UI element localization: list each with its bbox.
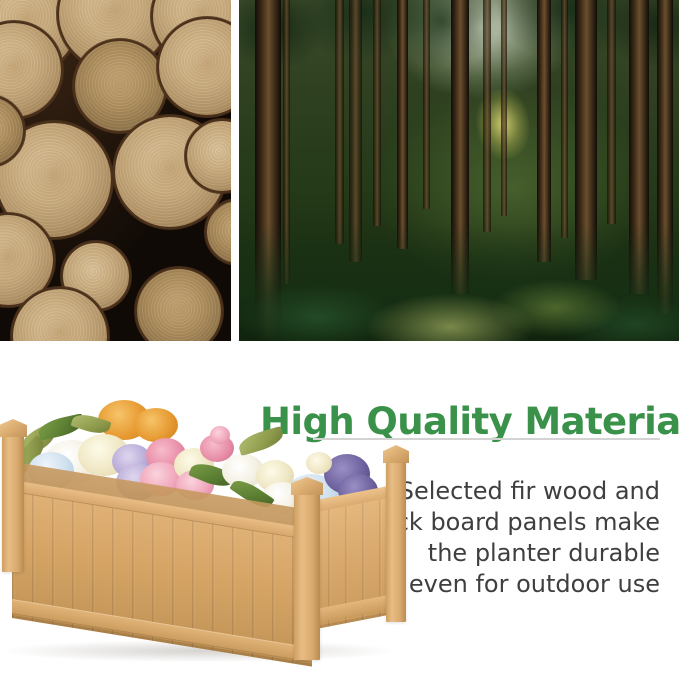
- planter-leg: [4, 562, 22, 592]
- tree-trunk: [607, 0, 616, 224]
- tree-trunk: [335, 0, 344, 244]
- planter-leg: [388, 610, 404, 632]
- tree-trunk: [501, 0, 507, 216]
- planter-product-photo: [0, 412, 414, 679]
- forest-floor: [239, 223, 679, 341]
- tree-trunk: [373, 0, 381, 226]
- tree-trunk: [483, 0, 491, 232]
- log-end: [186, 120, 231, 192]
- stacked-logs-photo: [0, 0, 231, 341]
- photo-strip: [0, 0, 679, 341]
- corner-post: [294, 492, 320, 660]
- planter-leg: [296, 650, 318, 672]
- conifer-forest-photo: [239, 0, 679, 341]
- corner-post: [386, 460, 406, 622]
- log-end: [136, 268, 222, 341]
- tree-trunk: [561, 0, 568, 238]
- corner-post: [2, 434, 24, 572]
- log-end: [158, 18, 231, 116]
- tree-trunk: [397, 0, 408, 249]
- marketing-image: High Quality Material Selected fir wood …: [0, 0, 679, 679]
- tree-trunk: [423, 0, 430, 209]
